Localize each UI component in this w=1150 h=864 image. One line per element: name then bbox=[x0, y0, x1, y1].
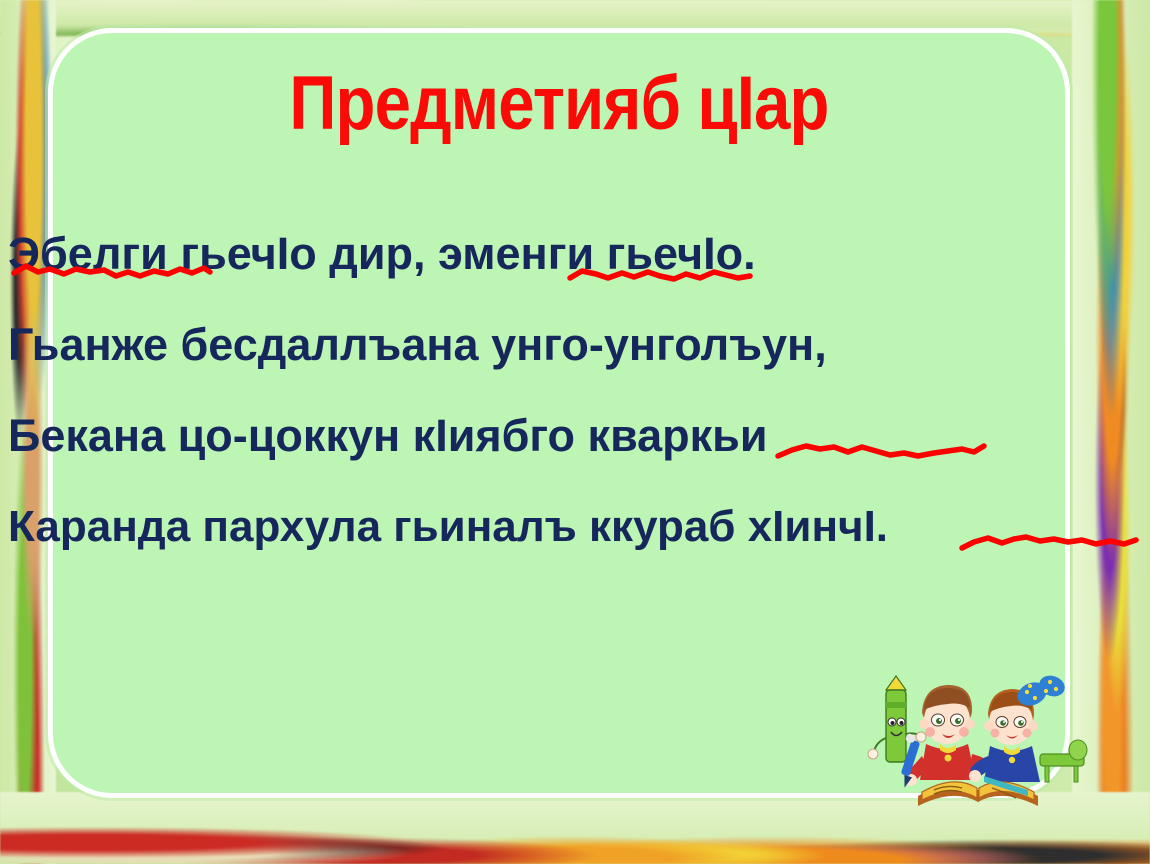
poem-line-1-text: Эбелги гьечIо дир, эменги гьечIо. bbox=[8, 228, 756, 279]
poem-line-2-text: Гьанже бесдаллъана унго-унголъун, bbox=[8, 319, 827, 370]
slide: Предметияб цIар Эбелги гьечIо дир, эменг… bbox=[0, 0, 1150, 864]
slide-title: Предметияб цIар bbox=[120, 56, 999, 152]
poem-line-1: Эбелги гьечIо дир, эменги гьечIо. bbox=[8, 208, 1144, 299]
poem-line-3: Бекана цо-цоккун кIиябго кваркьи bbox=[8, 390, 1144, 481]
squiggle-underline-kvarkyi bbox=[776, 440, 988, 462]
squiggle-underline-hinch bbox=[960, 531, 1140, 553]
poem-text-block: Эбелги гьечIо дир, эменги гьечIо. Гьанже… bbox=[8, 208, 1144, 572]
poem-line-3-text: Бекана цо-цоккун кIиябго кваркьи bbox=[8, 410, 768, 461]
poem-line-4: Каранда пархула гьиналъ ккураб хIинчI. bbox=[8, 481, 1144, 572]
bench-shape bbox=[1040, 740, 1087, 782]
poem-line-4-text: Каранда пархула гьиналъ ккураб хIинчI. bbox=[8, 502, 888, 551]
children-reading-clipart bbox=[862, 672, 1094, 812]
poem-line-2: Гьанже бесдаллъана унго-унголъун, bbox=[8, 299, 1144, 390]
